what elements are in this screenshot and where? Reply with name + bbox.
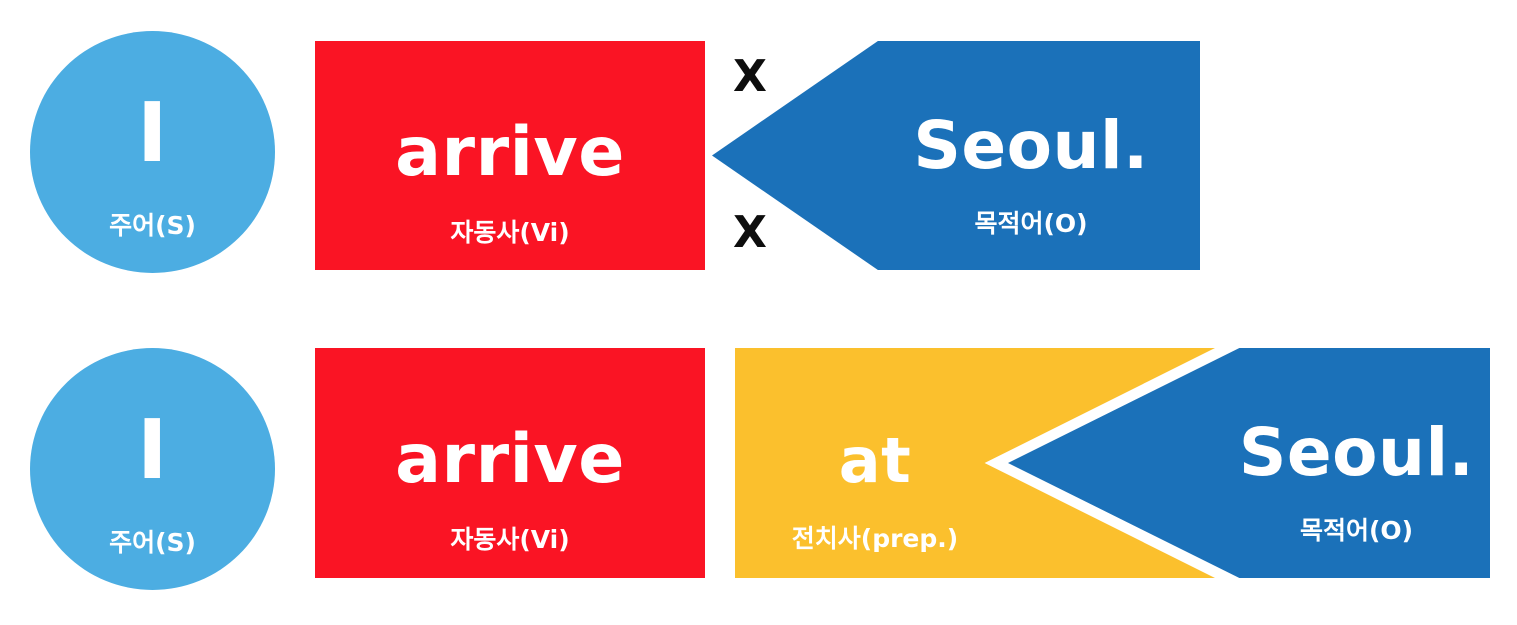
verb-box: arrive 자동사(Vi) [315, 348, 705, 578]
preposition-role-label: 전치사(prep.) [792, 526, 958, 551]
subject-circle: I 주어(S) [30, 348, 275, 590]
verb-role-label: 자동사(Vi) [450, 527, 569, 552]
verb-box: arrive 자동사(Vi) [315, 41, 705, 270]
object-role-label: 목적어(O) [974, 211, 1087, 236]
object-arrow-shape: Seoul. 목적어(O) [712, 41, 1200, 270]
subject-word: I [137, 410, 168, 492]
sentence-row-correct: I 주어(S) arrive 자동사(Vi) at 전치사(prep.) Seo… [0, 310, 1517, 625]
x-mark-bottom-icon: X [733, 211, 767, 255]
x-mark-top-icon: X [733, 55, 767, 99]
sentence-row-incorrect: I 주어(S) arrive 자동사(Vi) X X Seoul. 목적어(O) [0, 0, 1517, 310]
verb-word: arrive [395, 119, 625, 187]
verb-role-label: 자동사(Vi) [450, 220, 569, 245]
verb-word: arrive [395, 426, 625, 494]
subject-role-label: 주어(S) [109, 530, 196, 555]
object-word: Seoul. [1239, 420, 1474, 486]
preposition-word: at [839, 430, 911, 492]
object-role-label: 목적어(O) [1300, 518, 1413, 543]
subject-circle: I 주어(S) [30, 31, 275, 273]
subject-word: I [137, 93, 168, 175]
diagram-stage: I 주어(S) arrive 자동사(Vi) X X Seoul. 목적어(O)… [0, 0, 1517, 625]
object-word: Seoul. [913, 113, 1148, 179]
subject-role-label: 주어(S) [109, 213, 196, 238]
